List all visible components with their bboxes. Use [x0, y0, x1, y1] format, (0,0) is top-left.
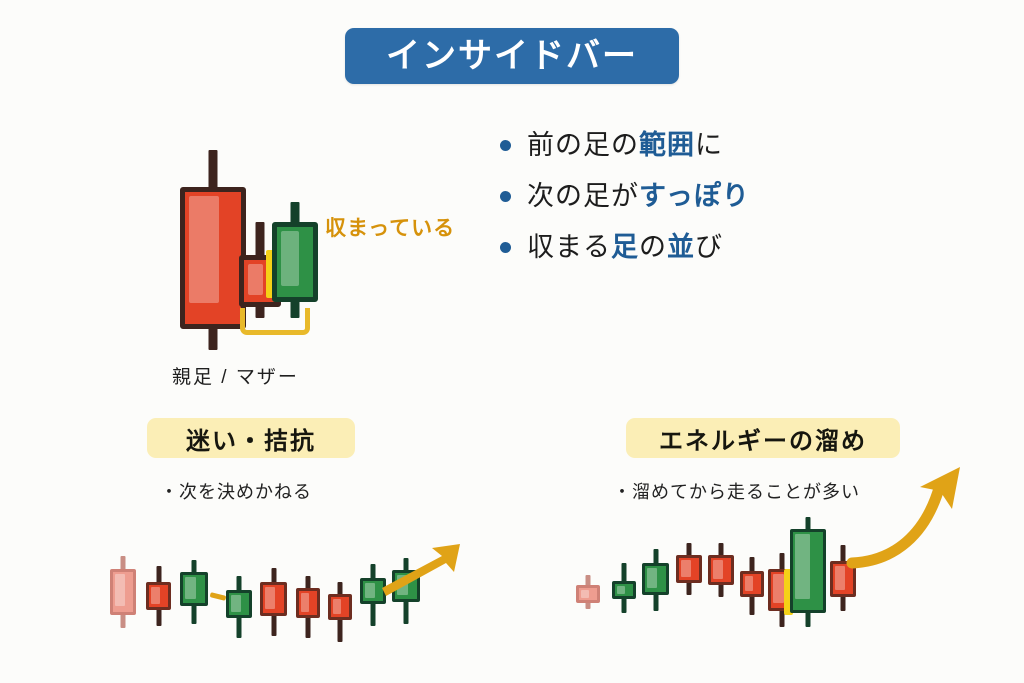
candle-body — [180, 572, 208, 606]
candle-gloss — [581, 590, 589, 598]
candle-body — [260, 582, 287, 616]
candle-body — [226, 590, 252, 618]
candle-gloss — [835, 566, 845, 590]
candle-gloss — [365, 583, 375, 598]
candle-gloss — [773, 574, 784, 603]
list-item: 収まる足の並び — [500, 232, 920, 263]
bullet-text: 収まる足の並び — [527, 232, 723, 263]
bullet-plain-tail: に — [695, 130, 723, 160]
candle-body — [110, 569, 136, 615]
candle-gloss — [301, 593, 309, 612]
candle-gloss — [647, 568, 657, 588]
bullet-text: 前の足の範囲に — [527, 130, 723, 161]
bullet-plain-tail: び — [695, 232, 723, 262]
mother-bar-label: 親足 / マザー — [172, 362, 299, 389]
bullet-highlight-2: 並 — [667, 232, 695, 262]
candle — [146, 566, 171, 626]
bullet-text: 次の足がすっぽり — [527, 181, 750, 212]
candle — [612, 563, 636, 613]
mini-chart-left — [108, 540, 448, 650]
candle — [260, 568, 287, 636]
candle — [676, 543, 702, 595]
bullet-plain: 次の足が — [527, 181, 639, 211]
candle — [740, 557, 764, 615]
section-badge-right: エネルギーの溜め — [626, 418, 900, 458]
candle — [180, 560, 208, 624]
mini-chart-right — [572, 505, 972, 635]
candle-body — [790, 529, 826, 613]
candle-body — [180, 187, 246, 329]
inside-range-bracket — [240, 308, 310, 335]
candle-body — [328, 594, 352, 620]
candle-mother-bar — [180, 150, 246, 350]
infographic-canvas: インサイドバー 前の足の範囲に 次の足がすっぽり 収まる足の並び — [0, 0, 1024, 683]
candle-body — [272, 222, 318, 302]
candle — [708, 543, 734, 597]
candle-body — [296, 588, 320, 618]
candle-gloss — [189, 196, 219, 303]
bullet-highlight: すっぽり — [639, 181, 750, 211]
bullet-highlight: 足 — [611, 232, 639, 262]
bullet-plain: 収まる — [527, 232, 611, 262]
candle-gloss — [115, 574, 125, 606]
candle-gloss — [281, 231, 299, 286]
bullet-dot-icon — [500, 242, 511, 253]
candle — [296, 576, 320, 638]
candle — [226, 576, 252, 638]
section-badge-right-label: エネルギーの溜め — [659, 421, 867, 456]
candle-body — [708, 555, 734, 585]
candle-gloss — [795, 534, 810, 599]
list-item: 次の足がすっぽり — [500, 181, 920, 212]
candle-gloss — [265, 587, 275, 609]
candle — [110, 556, 136, 628]
candle-body — [676, 555, 702, 583]
candle-body — [642, 563, 669, 595]
candle-gloss — [333, 599, 341, 614]
section-note-left: ・次を決めかねる — [160, 478, 312, 504]
page-title-badge: インサイドバー — [345, 28, 679, 84]
candle-body — [740, 571, 764, 597]
candle-gloss — [745, 576, 753, 591]
candle-body — [612, 581, 636, 599]
bullet-plain: 前の足の — [527, 130, 639, 160]
inside-bar-note: 収まっている — [325, 212, 455, 242]
candle-inside-bar-2 — [272, 202, 318, 318]
bullet-list: 前の足の範囲に 次の足がすっぽり 収まる足の並び — [500, 130, 920, 283]
candle-gloss — [151, 587, 160, 604]
bullet-dot-icon — [500, 191, 511, 202]
candle — [642, 549, 669, 611]
uptrend-arrow-icon — [376, 540, 466, 610]
section-note-right: ・溜めてから走ることが多い — [613, 478, 860, 504]
candle-gloss — [681, 560, 691, 577]
candle-breakout — [790, 517, 826, 627]
candle — [328, 582, 352, 642]
trend-connector — [210, 592, 227, 601]
list-item: 前の足の範囲に — [500, 130, 920, 161]
page-title: インサイドバー — [386, 39, 638, 73]
section-badge-left-label: 迷い・拮抗 — [186, 421, 316, 456]
breakout-arrow-icon — [848, 465, 978, 575]
bullet-plain-mid: の — [639, 232, 667, 262]
candle-gloss — [231, 595, 241, 612]
candle-body — [576, 585, 600, 603]
inside-bar-diagram: 収まっている 親足 / マザー — [160, 140, 500, 390]
candle-gloss — [185, 577, 196, 599]
candle — [576, 575, 600, 609]
candle-gloss — [248, 264, 263, 295]
section-badge-left: 迷い・拮抗 — [147, 418, 355, 458]
bullet-dot-icon — [500, 140, 511, 151]
bullet-highlight: 範囲 — [639, 130, 695, 160]
candle-gloss — [617, 586, 625, 594]
candle-body — [146, 582, 171, 610]
candle-gloss — [713, 560, 723, 579]
